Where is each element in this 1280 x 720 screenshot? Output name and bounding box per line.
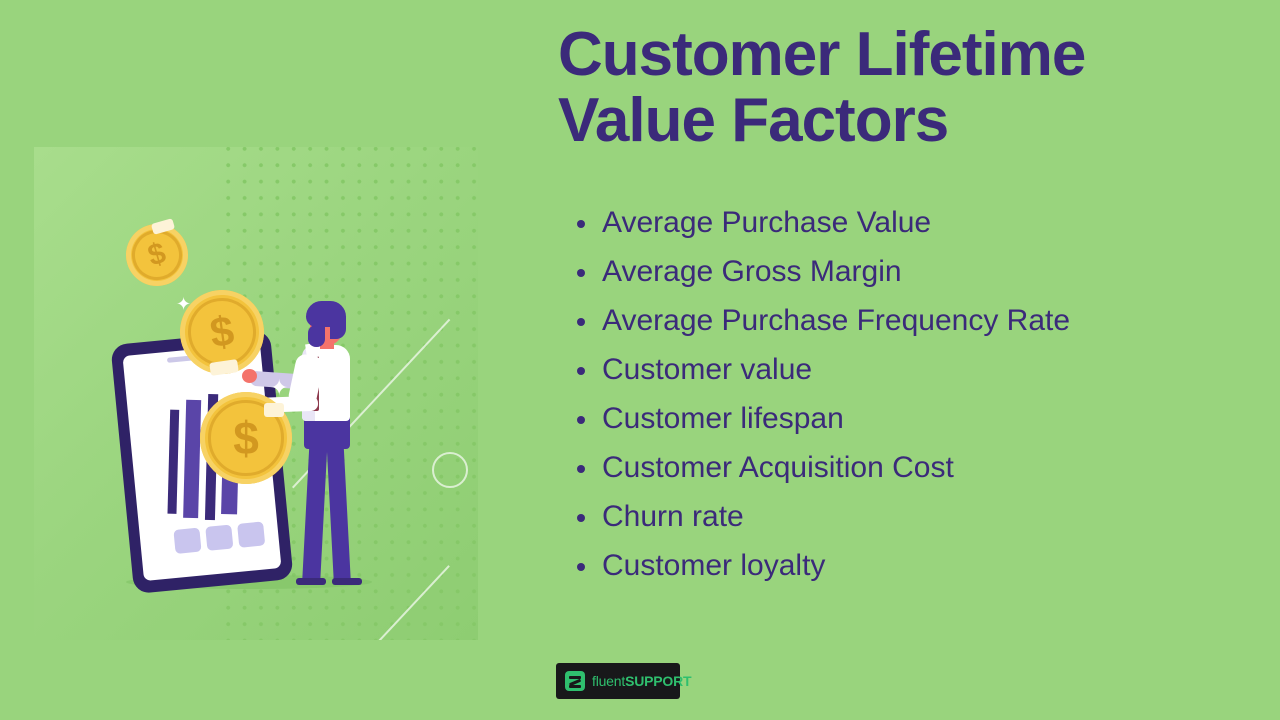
chart-bar [167,410,179,514]
person-shoe [296,578,326,585]
list-item: Average Purchase Value [558,198,1248,247]
factor-list: Average Purchase Value Average Gross Mar… [558,198,1248,590]
person-hand [242,369,257,383]
chart-bar [183,400,201,518]
list-item: Customer lifespan [558,394,1248,443]
list-item: Customer Acquisition Cost [558,443,1248,492]
list-item: Average Purchase Frequency Rate [558,296,1248,345]
content-column: Customer Lifetime Value Factors Average … [558,22,1248,590]
logo-wordmark: fluentSUPPORT [592,673,691,689]
circle-outline [432,452,468,488]
sparkle-icon: ✦ [262,541,277,559]
coin-highlight [264,403,284,417]
mark-stroke-bottom [569,685,581,688]
fluent-support-logo: fluentSUPPORT [556,663,680,699]
logo-word-fluent: fluent [592,673,625,689]
list-item: Customer value [558,345,1248,394]
screen-chip [205,524,233,550]
fluent-mark-icon [565,671,585,691]
person-shoe [332,578,362,585]
list-item: Customer loyalty [558,541,1248,590]
list-item: Churn rate [558,492,1248,541]
slide-canvas: $ $ $ ✦ ✦ ✦ [0,0,1280,720]
page-title: Customer Lifetime Value Factors [558,22,1248,154]
sparkle-icon: ✦ [176,295,191,313]
logo-word-support: SUPPORT [625,673,691,689]
illustration-panel: $ $ $ ✦ ✦ ✦ [34,147,478,640]
person-hair-back [330,309,346,339]
list-item: Average Gross Margin [558,247,1248,296]
person-beard [308,325,325,347]
coin-dollar-symbol: $ [233,411,259,465]
sparkle-icon: ✦ [270,377,288,399]
screen-chip [173,528,201,554]
